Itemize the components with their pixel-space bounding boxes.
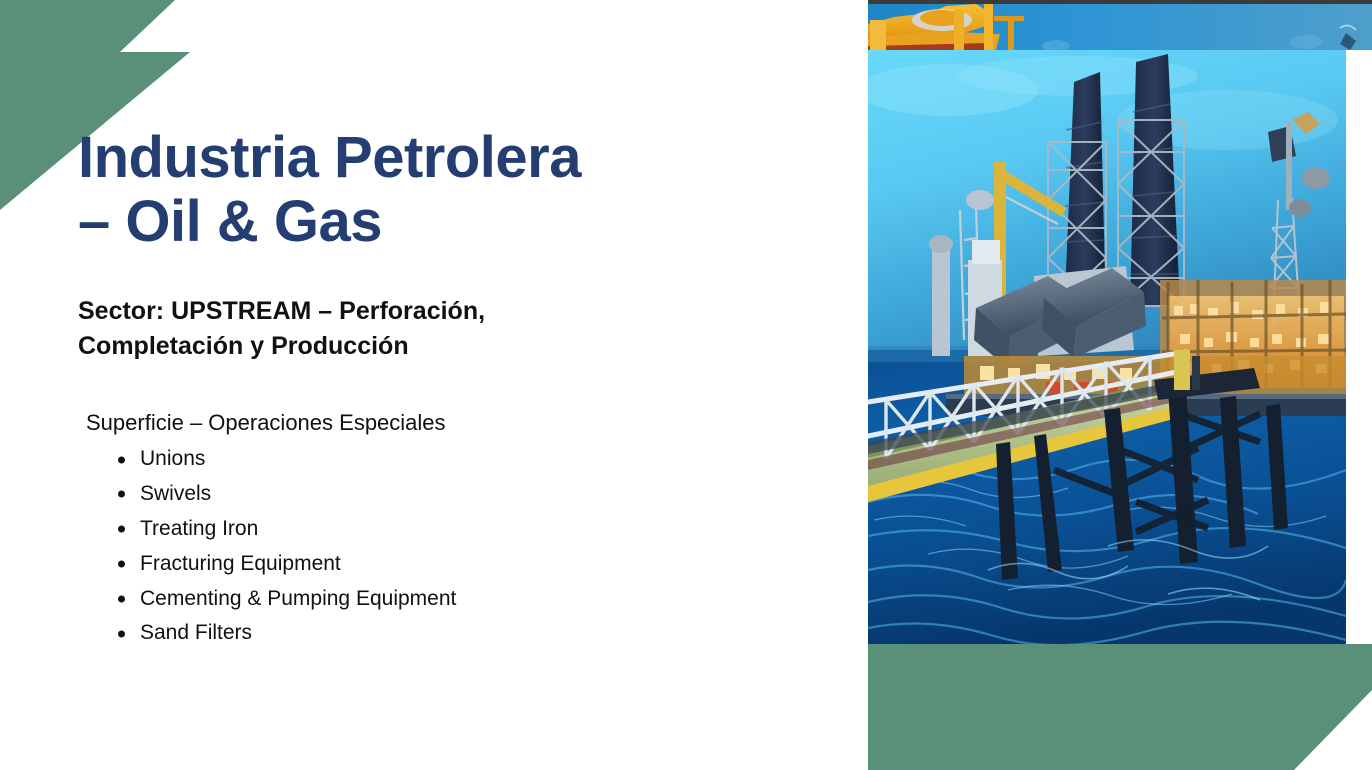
decorative-green-block-bottom-right bbox=[868, 644, 1372, 770]
bullet-dot-icon bbox=[118, 630, 125, 637]
list-item: Treating Iron bbox=[116, 512, 838, 547]
bullet-dot-icon bbox=[118, 561, 125, 568]
page-title: Industria Petrolera – Oil & Gas bbox=[78, 126, 838, 254]
offshore-oil-platform-photo bbox=[868, 50, 1346, 644]
bullet-list: Unions Swivels Treating Iron Fracturing … bbox=[86, 442, 838, 651]
slide-subtitle: Sector: UPSTREAM – Perforación, Completa… bbox=[78, 294, 658, 365]
offshore-crane-photo bbox=[868, 0, 1372, 50]
list-item: Cementing & Pumping Equipment bbox=[116, 582, 838, 617]
list-item-label: Cementing & Pumping Equipment bbox=[140, 587, 456, 610]
list-item: Fracturing Equipment bbox=[116, 547, 838, 582]
list-item: Swivels bbox=[116, 477, 838, 512]
body-heading: Superficie – Operaciones Especiales bbox=[86, 409, 838, 437]
bullet-dot-icon bbox=[118, 491, 125, 498]
bullet-dot-icon bbox=[118, 456, 125, 463]
list-item-label: Unions bbox=[140, 447, 205, 470]
presentation-slide: Industria Petrolera – Oil & Gas Sector: … bbox=[0, 0, 1372, 770]
list-item: Sand Filters bbox=[116, 616, 838, 651]
body-content-block: Superficie – Operaciones Especiales Unio… bbox=[86, 409, 838, 652]
list-item-label: Swivels bbox=[140, 482, 211, 505]
bullet-dot-icon bbox=[118, 526, 125, 533]
list-item-label: Treating Iron bbox=[140, 517, 258, 540]
list-item-label: Fracturing Equipment bbox=[140, 552, 341, 575]
list-item: Unions bbox=[116, 442, 838, 477]
slide-text-column: Industria Petrolera – Oil & Gas Sector: … bbox=[78, 126, 838, 651]
list-item-label: Sand Filters bbox=[140, 621, 252, 644]
bullet-dot-icon bbox=[118, 595, 125, 602]
